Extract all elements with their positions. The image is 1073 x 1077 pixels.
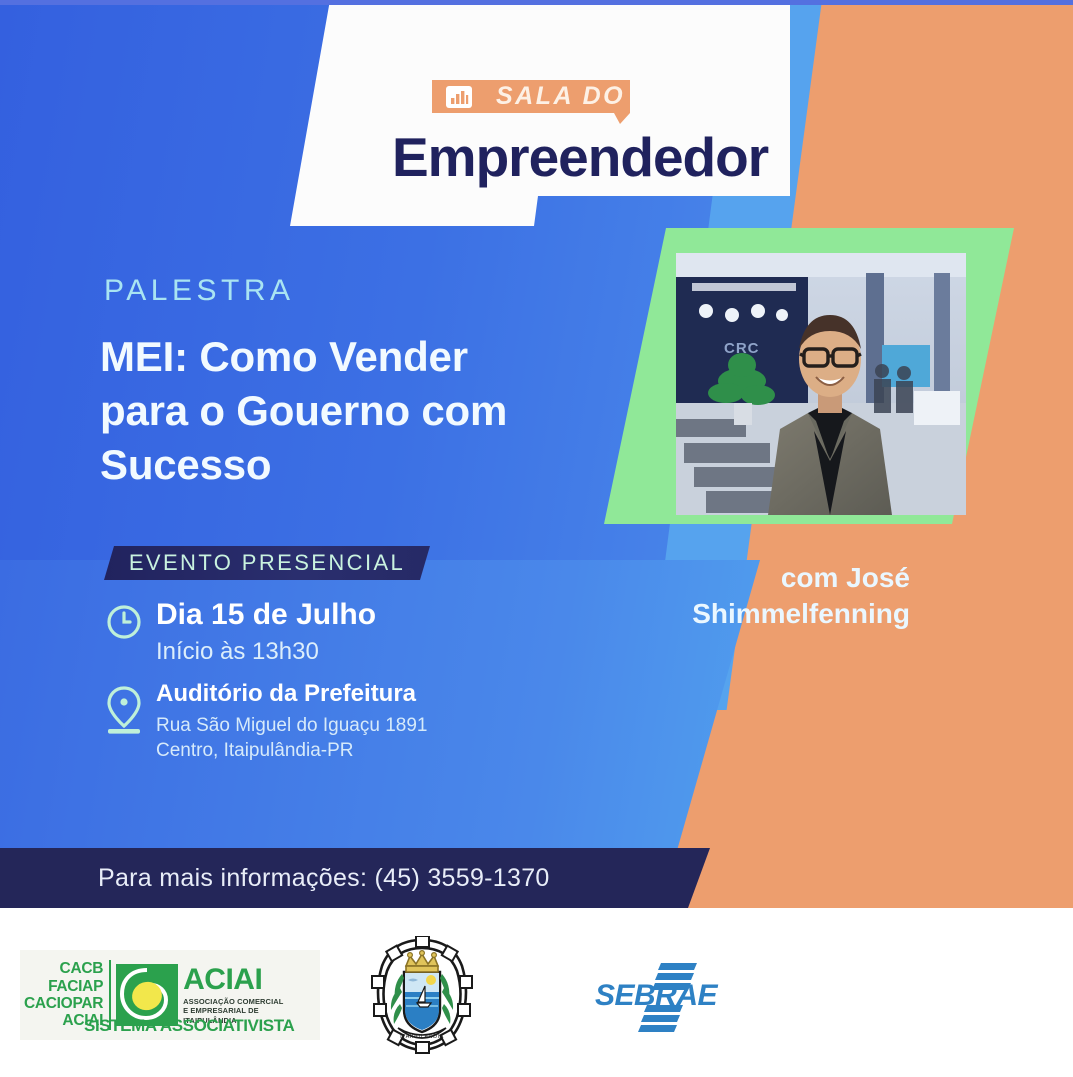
brand-lockup: SALA DO Empreendedor [432,80,768,185]
speaker-photo-illustration: CRC [676,253,966,515]
aciai-federation-2: CACIOPAR [24,995,103,1012]
event-flyer: SALA DO Empreendedor CRC [0,0,1073,1077]
page-kicker: PALESTRA [104,274,295,308]
aciai-federation-1: FACIAP [24,978,103,995]
event-date-secondary: Início às 13h30 [156,638,376,667]
title-line-2: para o Gouerno com [100,384,600,438]
contact-text: Para mais informações: (45) 3559-1370 [98,864,550,893]
sebrae-wordmark: SEBRAE [595,979,719,1012]
title-line-3: Sucesso [100,438,600,492]
title-line-1: MEI: Como Vender [100,330,600,384]
speaker-name-line-1: com José [600,560,910,596]
event-venue-name: Auditório da Prefeitura [156,680,427,708]
speaker-name-line-2: Shimmelfenning [600,596,910,632]
event-date-primary: Dia 15 de Julho [156,598,376,633]
top-accent-line [0,0,1073,5]
speaker-photo: CRC [676,253,966,515]
bar-chart-icon [446,86,472,108]
event-date-text: Dia 15 de Julho Início às 13h30 [156,598,376,666]
sala-do-badge: SALA DO [432,80,632,124]
status-badge-label: EVENTO PRESENCIAL [129,550,405,576]
aciai-description-line-1: E EMPRESARIAL DE [183,1006,283,1016]
event-venue-address-2: Centro, Itaipulândia-PR [156,738,427,763]
aciai-system-label: SISTEMA ASSOCIATIVISTA [84,1016,294,1036]
event-date-row: Dia 15 de Julho Início às 13h30 [104,598,376,666]
aciai-logo: CACB FACIAP CACIOPAR ACIAI ACIAI ASSOCIA… [20,950,320,1040]
map-pin-icon [104,680,156,741]
aciai-name: ACIAI [183,965,283,995]
event-venue-text: Auditório da Prefeitura Rua São Miguel d… [156,680,427,763]
speaker-name: com José Shimmelfenning [600,560,910,632]
page-title: MEI: Como Vender para o Gouerno com Suce… [100,330,600,491]
event-venue-row: Auditório da Prefeitura Rua São Miguel d… [104,680,427,763]
sala-do-label: SALA DO [496,82,625,111]
event-venue-address-1: Rua São Miguel do Iguaçu 1891 [156,713,427,738]
clock-icon [104,598,156,647]
aciai-federation-0: CACB [24,960,103,977]
aciai-description-line-0: ASSOCIAÇÃO COMERCIAL [183,997,283,1007]
empreendedor-wordmark: Empreendedor [392,130,768,185]
contact-bar: Para mais informações: (45) 3559-1370 [0,848,710,908]
aciai-system-row: SISTEMA ASSOCIATIVISTA [24,1016,316,1036]
coat-of-arms-caption: ITAIPULANDIA [400,1034,444,1040]
status-badge: EVENTO PRESENCIAL [104,546,430,580]
sponsor-logo-strip: CACB FACIAP CACIOPAR ACIAI ACIAI ASSOCIA… [0,908,1073,1077]
itaipulandia-coat-of-arms-icon: ITAIPULANDIA [370,936,474,1054]
sebrae-logo-icon: SEBRAE [585,961,749,1033]
